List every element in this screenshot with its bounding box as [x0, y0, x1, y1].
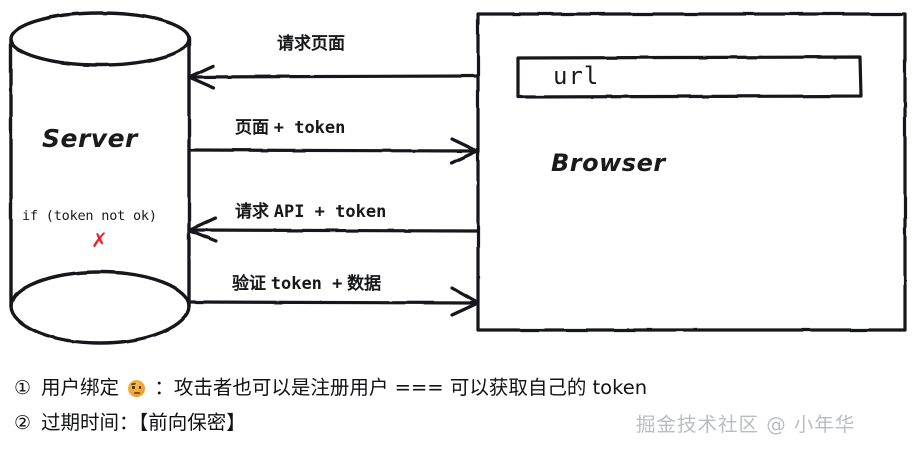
list-item: ① 用户绑定 ：攻击者也可以是注册用户 === 可以获取自己的 token — [14, 371, 894, 406]
arrow-caption-mono: API + token — [274, 202, 387, 222]
diagram-canvas: Server if (token not ok) ✗ Browser url 请… — [0, 0, 914, 451]
arrow-caption-mono: + token — [274, 118, 346, 138]
note-text-after-emoji: ：攻击者也可以是注册用户 === 可以获取自己的 token — [154, 376, 647, 399]
server-cylinder — [11, 13, 189, 343]
url-input-value[interactable]: url — [553, 62, 599, 90]
arrow-page-token — [191, 139, 477, 163]
face-with-raised-eyebrow-emoji — [128, 380, 145, 397]
arrow-caption-text: 页面 — [235, 118, 269, 138]
server-label: Server — [42, 124, 138, 153]
arrow-caption-text: 请求 — [235, 202, 269, 222]
note-text: 用户绑定 ：攻击者也可以是注册用户 === 可以获取自己的 token — [41, 371, 647, 400]
browser-label: Browser — [551, 149, 666, 177]
watermark: 掘金技术社区 @ 小年华 — [636, 408, 855, 437]
note-number: ① — [14, 377, 41, 399]
emoji-mouth — [134, 392, 140, 394]
arrow-caption-verify-token: 验证 token + 数据 — [232, 269, 381, 294]
arrow-caption-text: 验证 — [232, 274, 266, 294]
arrow-request-page — [189, 66, 476, 88]
emoji-brow — [131, 383, 136, 386]
arrow-caption-request-page: 请求页面 — [277, 29, 345, 54]
browser-window — [478, 14, 905, 330]
note-number: ② — [14, 412, 41, 434]
arrow-caption-mono: token + — [271, 274, 343, 294]
server-condition-text: if (token not ok) — [22, 208, 157, 224]
red-cross-icon: ✗ — [91, 228, 108, 252]
note-text: 过期时间：【前向保密】 — [41, 406, 246, 435]
arrow-caption-page-token: 页面 + token — [235, 113, 345, 138]
note-text-before-emoji: 用户绑定 — [41, 376, 119, 399]
arrow-caption-text: 请求页面 — [277, 34, 345, 54]
arrow-caption-request-api: 请求 API + token — [235, 197, 386, 222]
arrow-caption-text-tail: 数据 — [347, 274, 381, 294]
